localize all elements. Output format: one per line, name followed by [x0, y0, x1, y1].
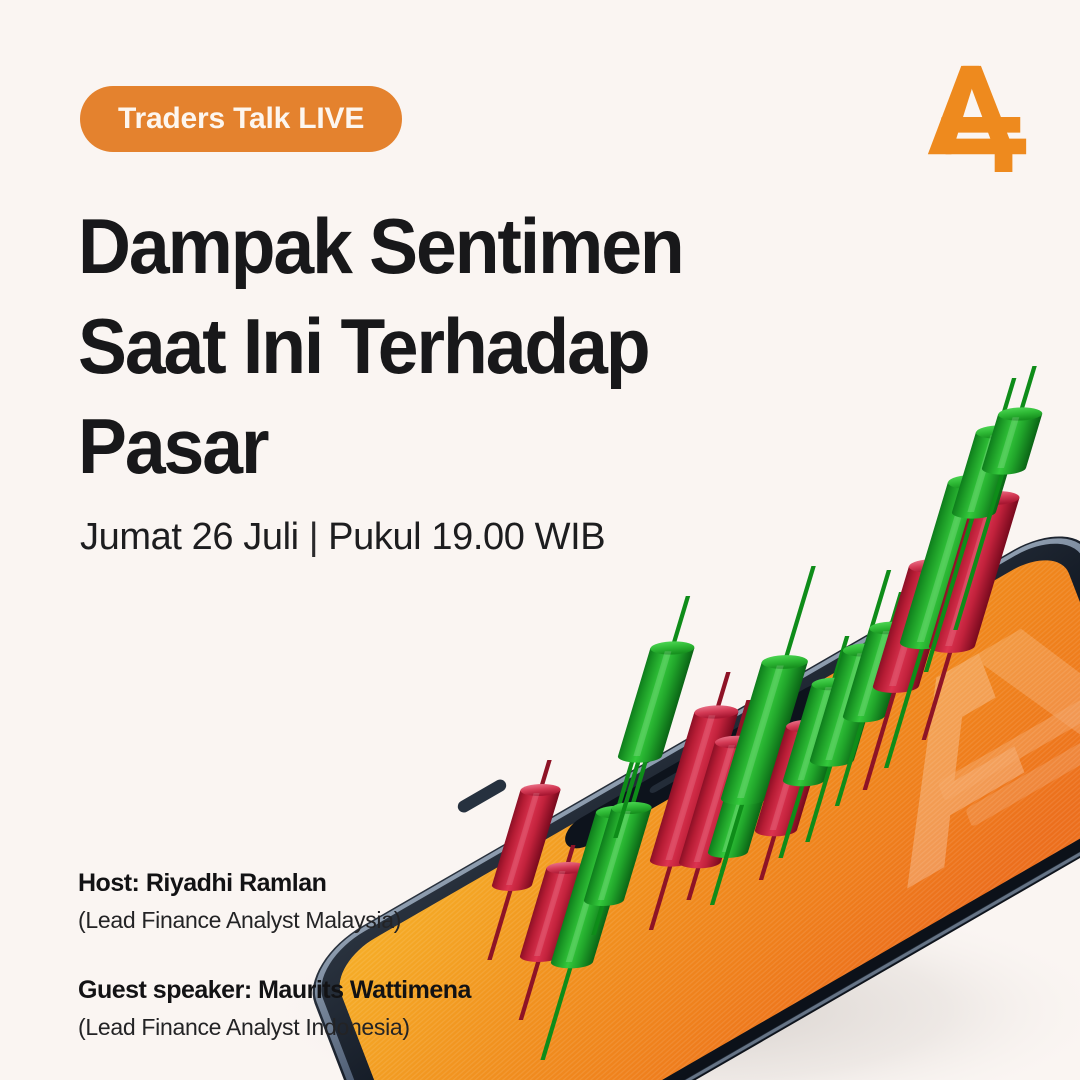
guest-role: (Lead Finance Analyst Indonesia) — [78, 1010, 598, 1044]
title-line-3: Pasar — [78, 396, 811, 496]
host-role: (Lead Finance Analyst Malaysia) — [78, 903, 598, 937]
datetime-separator: | — [299, 516, 328, 558]
title-line-1: Dampak Sentimen — [78, 196, 811, 296]
title-line-2: Saat Ini Terhadap — [78, 296, 811, 396]
speaker-credits: Host: Riyadhi Ramlan (Lead Finance Analy… — [78, 866, 598, 1044]
guest-name: Guest speaker: Maurits Wattimena — [78, 973, 598, 1007]
poster-canvas: Traders Talk LIVE Dampak Sentimen Saat I… — [0, 0, 1080, 1080]
live-badge-label: Traders Talk LIVE — [118, 102, 364, 136]
guest-credit: Guest speaker: Maurits Wattimena (Lead F… — [78, 973, 598, 1044]
phone-side-button — [456, 777, 509, 814]
host-credit: Host: Riyadhi Ramlan (Lead Finance Analy… — [78, 866, 598, 937]
event-date: Jumat 26 Juli — [80, 516, 299, 558]
page-title: Dampak Sentimen Saat Ini Terhadap Pasar — [78, 196, 811, 496]
brand-logo-icon — [918, 56, 1036, 172]
event-datetime: Jumat 26 Juli|Pukul 19.00 WIB — [80, 516, 605, 559]
event-time: Pukul 19.00 WIB — [328, 516, 605, 558]
live-badge: Traders Talk LIVE — [80, 86, 402, 152]
host-name: Host: Riyadhi Ramlan — [78, 866, 598, 900]
